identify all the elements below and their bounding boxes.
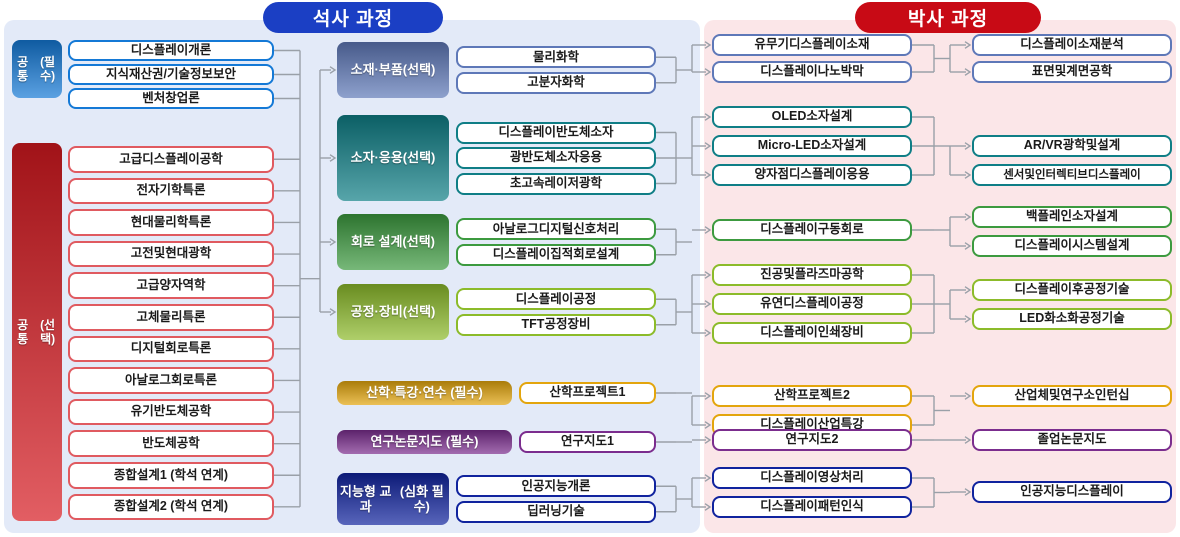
category-track-5[interactable]: 연구논문지도 (필수) — [337, 430, 512, 454]
doctoral-mid-6-0[interactable]: 디스플레이영상처리 — [712, 467, 912, 489]
category-sublabel: (필수) — [33, 55, 62, 83]
curriculum-diagram: 석사 과정 박사 과정 공통(필수)디스플레이개론지식재산권/기술정보보안벤처창… — [0, 0, 1180, 537]
doctoral-right-0-0[interactable]: 디스플레이소재분석 — [972, 34, 1172, 56]
course-common-elective-0[interactable]: 고급디스플레이공학 — [68, 146, 274, 173]
doctoral-right-4-0[interactable]: 산업체및연구소인턴십 — [972, 385, 1172, 407]
category-sublabel: (선택) — [33, 318, 62, 346]
category-label: 공통 — [12, 318, 33, 346]
category-sublabel: (선택) — [403, 62, 436, 77]
doctoral-right-3-1[interactable]: LED화소화공정기술 — [972, 308, 1172, 330]
course-common-required-0[interactable]: 디스플레이개론 — [68, 40, 274, 61]
doctoral-right-0-1[interactable]: 표면및계면공학 — [972, 61, 1172, 83]
doctoral-mid-3-0[interactable]: 진공및플라즈마공학 — [712, 264, 912, 286]
course-common-elective-6[interactable]: 디지털회로특론 — [68, 336, 274, 363]
doctoral-mid-3-2[interactable]: 디스플레이인쇄장비 — [712, 322, 912, 344]
category-label: 산학·특강·연수 (필수) — [366, 385, 483, 400]
course-track-2-1[interactable]: 디스플레이집적회로설계 — [456, 244, 656, 266]
doctoral-mid-2-0[interactable]: 디스플레이구동회로 — [712, 219, 912, 241]
course-common-elective-5[interactable]: 고체물리특론 — [68, 304, 274, 331]
course-common-elective-8[interactable]: 유기반도체공학 — [68, 399, 274, 426]
category-track-3[interactable]: 공정·장비(선택) — [337, 284, 449, 340]
course-track-1-0[interactable]: 디스플레이반도체소자 — [456, 122, 656, 144]
doctoral-right-2-1[interactable]: 디스플레이시스템설계 — [972, 235, 1172, 257]
course-track-5-0[interactable]: 연구지도1 — [519, 431, 656, 453]
doctoral-mid-6-1[interactable]: 디스플레이패턴인식 — [712, 496, 912, 518]
doctoral-right-3-0[interactable]: 디스플레이후공정기술 — [972, 279, 1172, 301]
category-label: 소재·부품 — [351, 62, 403, 77]
category-track-6[interactable]: 지능형 교과(심화 필수) — [337, 473, 449, 525]
course-track-4-0[interactable]: 산학프로젝트1 — [519, 382, 656, 404]
doctoral-mid-4-0[interactable]: 산학프로젝트2 — [712, 385, 912, 407]
course-track-1-1[interactable]: 광반도체소자응용 — [456, 147, 656, 169]
course-track-0-1[interactable]: 고분자화학 — [456, 72, 656, 94]
category-track-0[interactable]: 소재·부품(선택) — [337, 42, 449, 98]
doctoral-right-1-0[interactable]: AR/VR광학및설계 — [972, 135, 1172, 157]
category-common-elective[interactable]: 공통(선택) — [12, 143, 62, 521]
course-track-6-0[interactable]: 인공지능개론 — [456, 475, 656, 497]
course-track-2-0[interactable]: 아날로그디지털신호처리 — [456, 218, 656, 240]
course-track-6-1[interactable]: 딥러닝기술 — [456, 501, 656, 523]
course-track-1-2[interactable]: 초고속레이저광학 — [456, 173, 656, 195]
course-common-elective-3[interactable]: 고전및현대광학 — [68, 241, 274, 268]
doctoral-right-6-0[interactable]: 인공지능디스플레이 — [972, 481, 1172, 503]
category-label: 공정·장비 — [351, 304, 403, 319]
category-track-4[interactable]: 산학·특강·연수 (필수) — [337, 381, 512, 405]
doctoral-right-5-0[interactable]: 졸업논문지도 — [972, 429, 1172, 451]
course-common-elective-10[interactable]: 종합설계1 (학석 연계) — [68, 462, 274, 489]
course-common-elective-11[interactable]: 종합설계2 (학석 연계) — [68, 494, 274, 521]
doctoral-mid-0-1[interactable]: 디스플레이나노박막 — [712, 61, 912, 83]
course-common-required-1[interactable]: 지식재산권/기술정보보안 — [68, 64, 274, 85]
masters-title-pill: 석사 과정 — [263, 2, 443, 33]
category-label: 공통 — [12, 55, 33, 83]
doctoral-mid-1-0[interactable]: OLED소자설계 — [712, 106, 912, 128]
course-common-elective-1[interactable]: 전자기학특론 — [68, 178, 274, 205]
doctoral-mid-1-1[interactable]: Micro-LED소자설계 — [712, 135, 912, 157]
course-track-0-0[interactable]: 물리화학 — [456, 46, 656, 68]
category-track-1[interactable]: 소자·응용(선택) — [337, 115, 449, 201]
category-track-2[interactable]: 회로 설계(선택) — [337, 214, 449, 270]
doctoral-mid-3-1[interactable]: 유연디스플레이공정 — [712, 293, 912, 315]
category-sublabel: (선택) — [403, 304, 436, 319]
course-common-elective-4[interactable]: 고급양자역학 — [68, 272, 274, 299]
category-label: 지능형 교과 — [337, 484, 395, 515]
doctoral-mid-1-2[interactable]: 양자점디스플레이응용 — [712, 164, 912, 186]
category-common-required[interactable]: 공통(필수) — [12, 40, 62, 98]
category-label: 회로 설계 — [351, 234, 402, 249]
doctoral-right-1-1[interactable]: 센서및인터렉티브디스플레이 — [972, 164, 1172, 186]
doctoral-title-pill: 박사 과정 — [855, 2, 1041, 33]
doctoral-mid-5-0[interactable]: 연구지도2 — [712, 429, 912, 451]
course-common-required-2[interactable]: 벤처창업론 — [68, 88, 274, 109]
category-label: 소자·응용 — [351, 150, 403, 165]
course-common-elective-7[interactable]: 아날로그회로특론 — [68, 367, 274, 394]
doctoral-right-2-0[interactable]: 백플레인소자설계 — [972, 206, 1172, 228]
category-sublabel: (심화 필수) — [395, 484, 450, 515]
course-common-elective-2[interactable]: 현대물리학특론 — [68, 209, 274, 236]
category-label: 연구논문지도 (필수) — [371, 434, 479, 449]
doctoral-mid-0-0[interactable]: 유무기디스플레이소재 — [712, 34, 912, 56]
category-sublabel: (선택) — [403, 150, 436, 165]
course-common-elective-9[interactable]: 반도체공학 — [68, 430, 274, 457]
course-track-3-1[interactable]: TFT공정장비 — [456, 314, 656, 336]
course-track-3-0[interactable]: 디스플레이공정 — [456, 288, 656, 310]
category-sublabel: (선택) — [402, 234, 435, 249]
